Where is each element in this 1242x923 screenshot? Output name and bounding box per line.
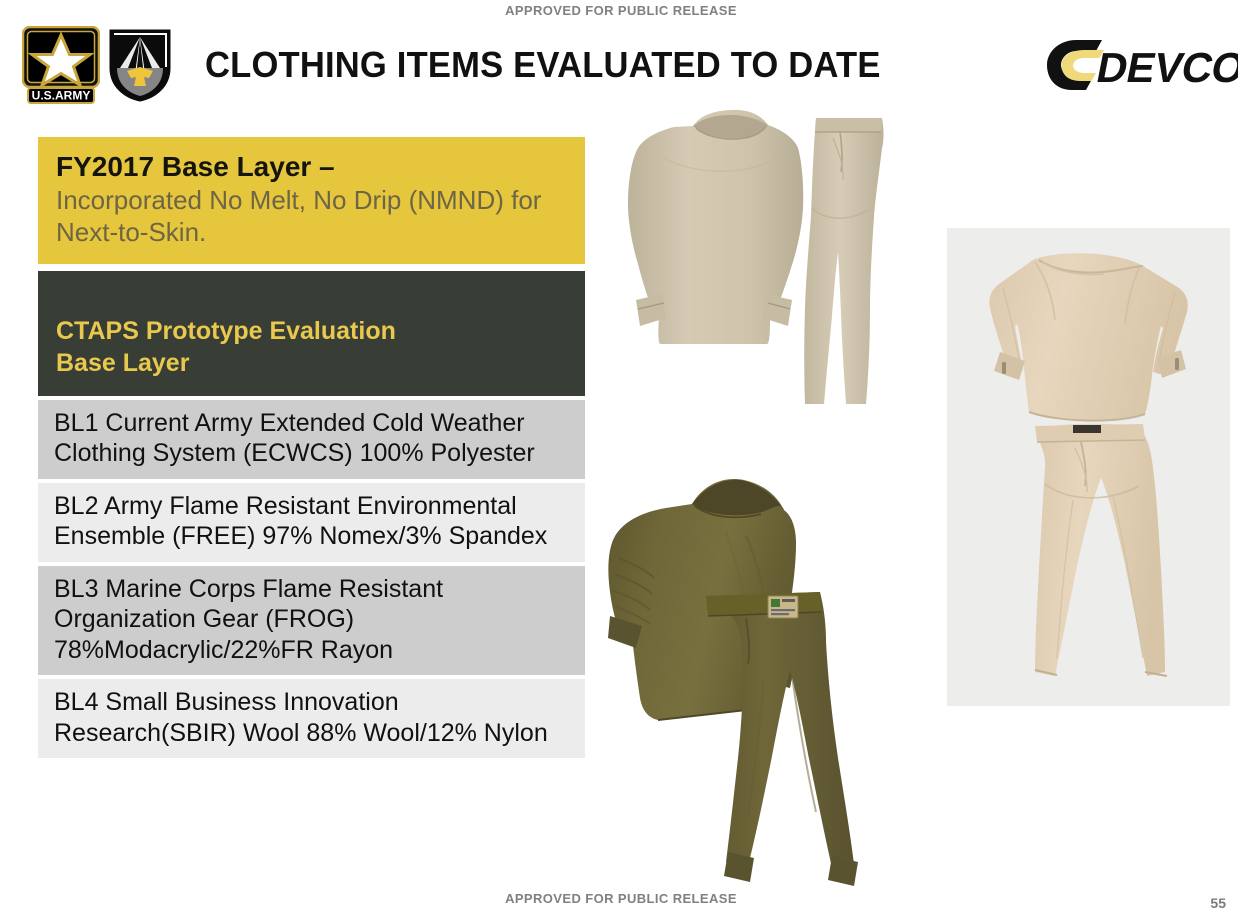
base-layer-row-bl3: BL3 Marine Corps Flame Resistant Organiz… xyxy=(38,566,585,676)
svg-text:U.S.ARMY: U.S.ARMY xyxy=(32,89,91,103)
svg-text:DEVCOM: DEVCOM xyxy=(1093,44,1238,91)
devcom-wordmark-logo: DEVCOM xyxy=(1042,34,1238,96)
photo-olive-base-layer-set xyxy=(596,466,936,902)
fy2017-headline: FY2017 Base Layer – xyxy=(56,151,567,183)
photo-wool-base-layer-set xyxy=(947,228,1230,706)
page-number: 55 xyxy=(1210,895,1226,911)
photo-tan-base-layer-set xyxy=(600,104,900,424)
base-layer-row-bl2: BL2 Army Flame Resistant Environmental E… xyxy=(38,483,585,562)
ctaps-prototype-evaluation-banner: CTAPS Prototype Evaluation Base Layer xyxy=(38,271,585,396)
ctaps-line-2: Base Layer xyxy=(56,347,567,379)
base-layer-row-bl1: BL1 Current Army Extended Cold Weather C… xyxy=(38,400,585,479)
page-title: CLOTHING ITEMS EVALUATED TO DATE xyxy=(205,44,992,86)
fy2017-base-layer-banner: FY2017 Base Layer – Incorporated No Melt… xyxy=(38,137,585,264)
content-column: FY2017 Base Layer – Incorporated No Melt… xyxy=(38,137,585,758)
base-layer-row-bl4: BL4 Small Business Innovation Research(S… xyxy=(38,679,585,758)
bottom-classification-banner: APPROVED FOR PUBLIC RELEASE xyxy=(0,891,1242,906)
fy2017-subline: Incorporated No Melt, No Drip (NMND) for… xyxy=(56,185,567,247)
slide-canvas: APPROVED FOR PUBLIC RELEASE U.S.ARMY CLO… xyxy=(0,0,1242,923)
ctaps-line-1: CTAPS Prototype Evaluation xyxy=(56,315,567,347)
devcom-shield-icon xyxy=(108,28,172,102)
us-army-logo: U.S.ARMY xyxy=(22,26,100,104)
top-classification-banner: APPROVED FOR PUBLIC RELEASE xyxy=(0,3,1242,18)
